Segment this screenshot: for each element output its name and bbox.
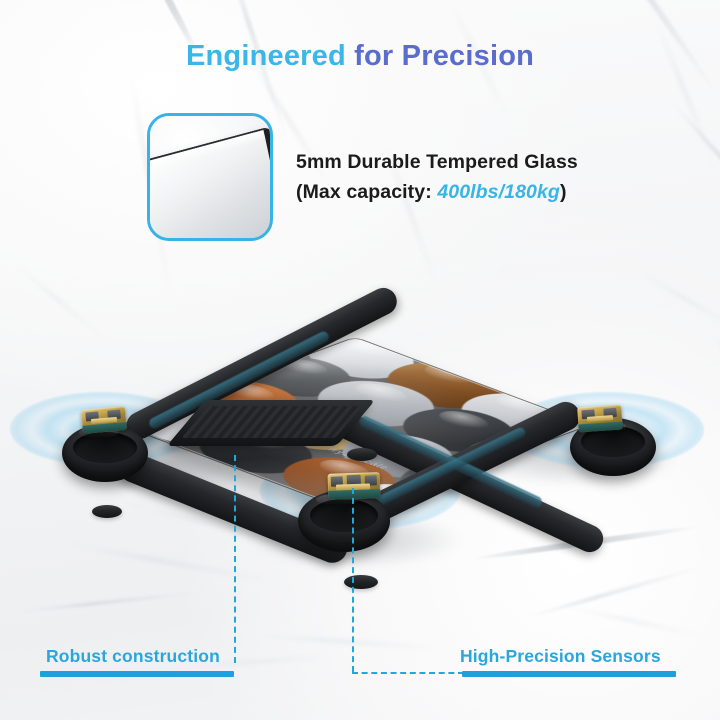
sensor-center xyxy=(328,472,381,500)
foot-pad-left xyxy=(92,505,122,518)
product-feature-graphic: Engineered for Precision 0.5 5mm Durable… xyxy=(0,0,720,720)
callout-label-high-precision-sensors: High-Precision Sensors xyxy=(460,646,661,667)
foot-pod-left xyxy=(62,424,148,482)
foot-pad-upper xyxy=(347,448,377,461)
console-vent-ribs xyxy=(181,406,362,438)
callout-rule-robust-construction xyxy=(40,671,234,677)
foot-pad-center xyxy=(344,575,378,589)
callout-line-high-precision-sensors-horizontal xyxy=(352,672,464,674)
callout-line-robust-construction xyxy=(234,455,236,663)
callout-rule-high-precision-sensors xyxy=(462,671,676,677)
scale-frame xyxy=(0,0,720,720)
callout-line-high-precision-sensors xyxy=(352,488,354,672)
sensor-right xyxy=(577,404,623,432)
callout-label-robust-construction: Robust construction xyxy=(46,646,220,667)
sensor-left xyxy=(81,406,127,434)
